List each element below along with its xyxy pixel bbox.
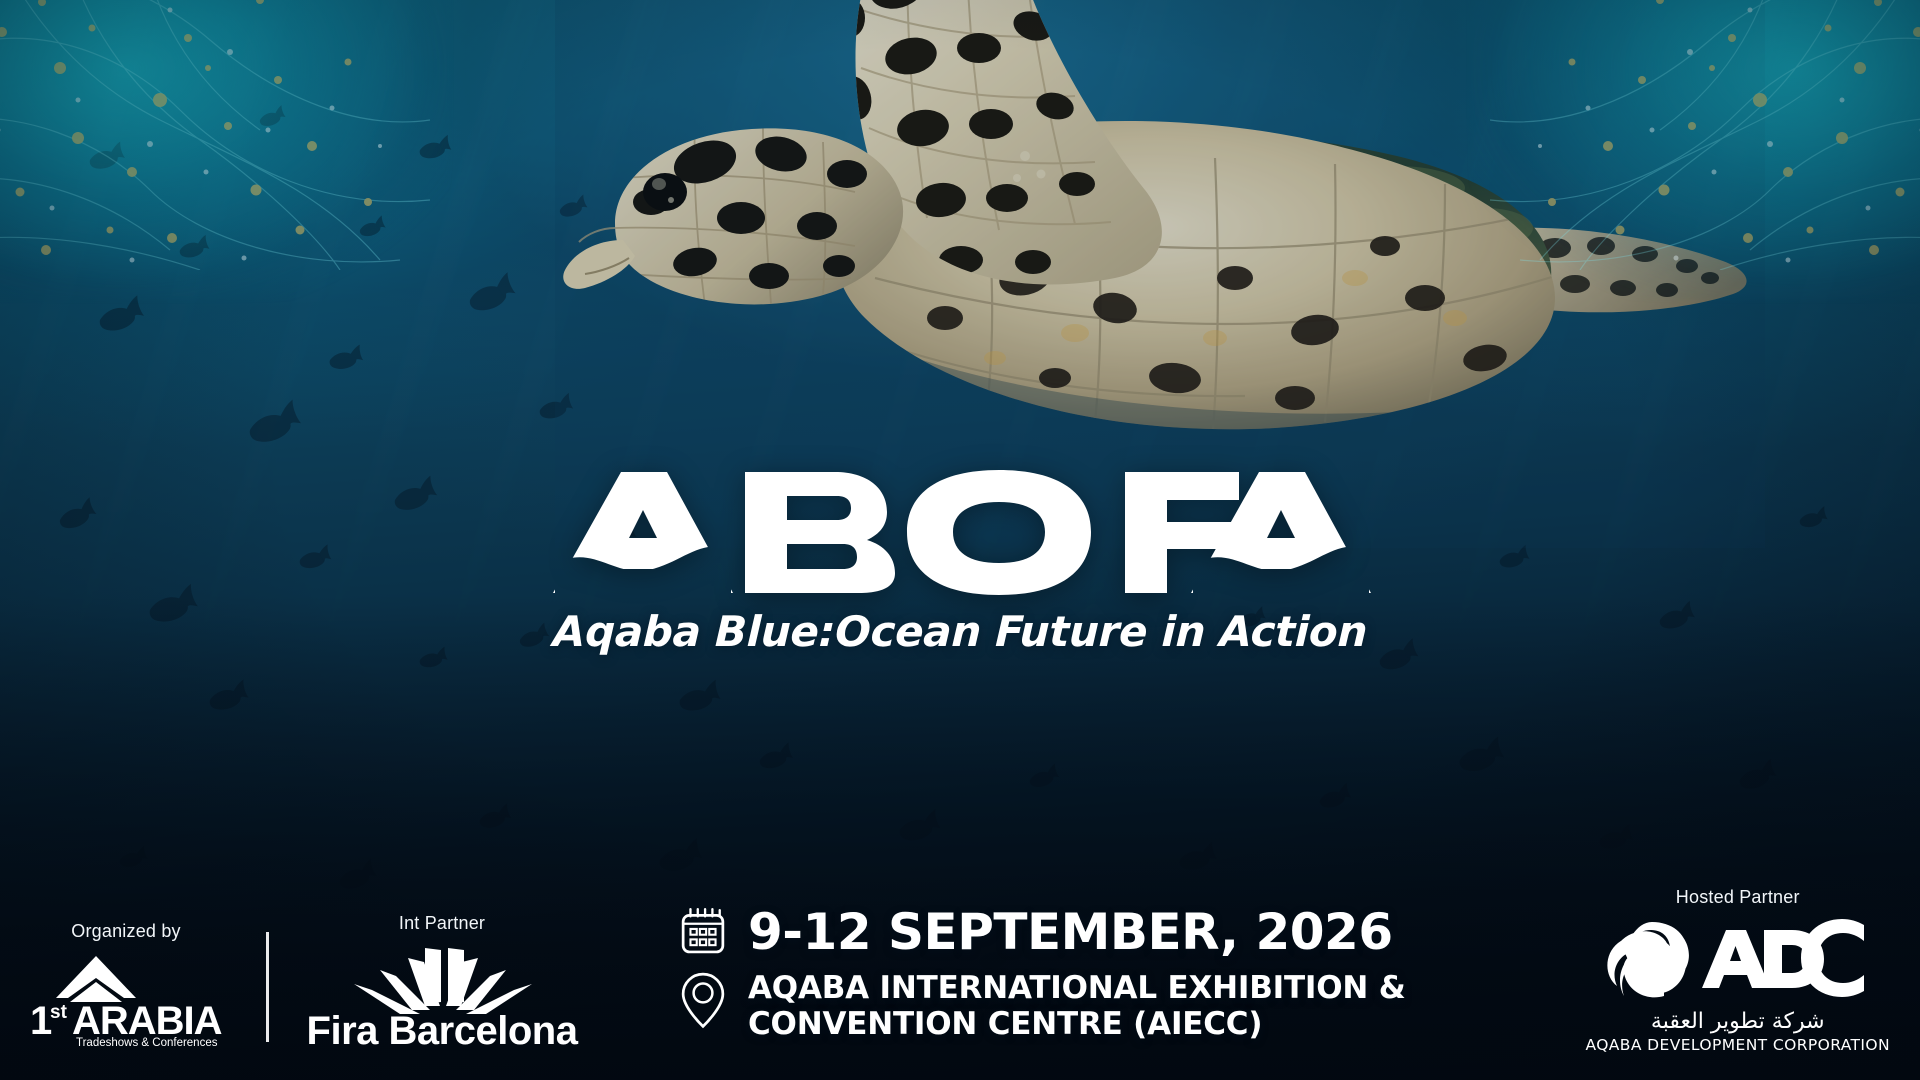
- event-banner: Aqaba Blue:Ocean Future in Action Organi…: [0, 0, 1920, 1080]
- organizer-label: Organized by: [71, 921, 180, 942]
- partner-divider: [266, 932, 269, 1042]
- international-partner-block: Int Partner Fira Barcelona: [292, 913, 592, 1048]
- international-partner-label: Int Partner: [399, 913, 485, 934]
- svg-text:Fira Barcelona: Fira Barcelona: [307, 1009, 579, 1048]
- chevron-arrow-icon: [56, 956, 136, 1002]
- adc-english-name: AQABA DEVELOPMENT CORPORATION: [1585, 1036, 1890, 1054]
- event-logo-block: Aqaba Blue:Ocean Future in Action: [0, 470, 1920, 656]
- event-details: 9-12 SEPTEMBER, 2026 AQABA INTERNATIONAL…: [680, 907, 1406, 1042]
- first-arabia-logo[interactable]: 1 st ARABIA Tradeshows & Conferences: [28, 952, 224, 1048]
- event-date: 9-12 SEPTEMBER, 2026: [748, 907, 1393, 957]
- hosted-partner-block: Hosted Partner شركة تطوير العقبة AQABA D…: [1585, 887, 1890, 1054]
- organizer-block: Organized by 1 st ARABIA Tradeshows & Co…: [28, 921, 224, 1048]
- fira-barcelona-logo[interactable]: Fira Barcelona: [292, 944, 592, 1048]
- svg-text:Tradeshows & Conferences: Tradeshows & Conferences: [76, 1037, 218, 1048]
- adc-logo[interactable]: [1606, 918, 1870, 1002]
- swirl-aperture-icon: [1607, 922, 1689, 997]
- fan-rays-icon: [354, 948, 532, 1014]
- abofa-wordmark: [545, 470, 1375, 595]
- adc-arabic-name: شركة تطوير العقبة: [1651, 1009, 1825, 1034]
- venue-line-2: CONVENTION CENTRE (AIECC): [748, 1007, 1406, 1042]
- venue-line-1: AQABA INTERNATIONAL EXHIBITION &: [748, 971, 1406, 1006]
- date-row: 9-12 SEPTEMBER, 2026: [680, 907, 1406, 957]
- calendar-icon: [680, 907, 726, 955]
- event-tagline: Aqaba Blue:Ocean Future in Action: [552, 607, 1368, 656]
- bottom-bar: Organized by 1 st ARABIA Tradeshows & Co…: [0, 850, 1920, 1080]
- svg-text:st: st: [50, 1002, 68, 1023]
- event-venue: AQABA INTERNATIONAL EXHIBITION & CONVENT…: [748, 971, 1406, 1042]
- venue-row: AQABA INTERNATIONAL EXHIBITION & CONVENT…: [680, 971, 1406, 1042]
- map-pin-icon: [680, 971, 726, 1030]
- svg-text:1: 1: [30, 999, 52, 1043]
- hosted-partner-label: Hosted Partner: [1676, 887, 1800, 908]
